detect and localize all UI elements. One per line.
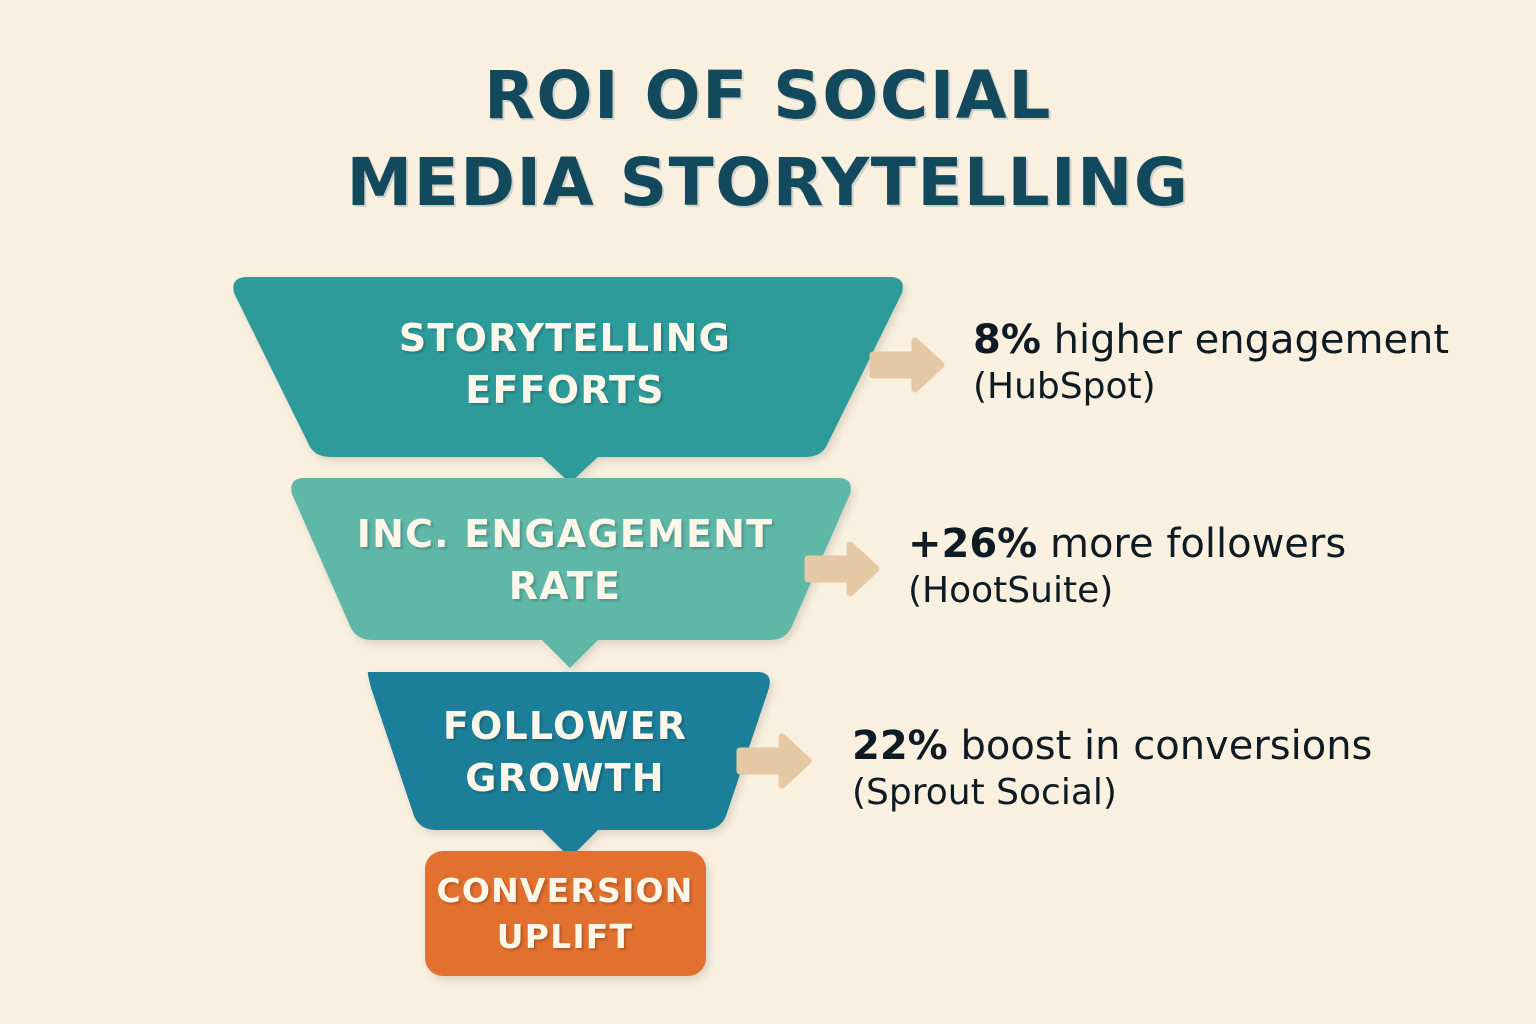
callout-inc-engagement-rate: +26% more followers (HootSuite): [908, 522, 1346, 613]
callout-headline: +26% more followers: [908, 522, 1346, 567]
stage-label-line-2: Rate: [290, 560, 840, 612]
title-line-1: ROI of Social: [0, 52, 1536, 139]
callout-headline: 22% boost in conversions: [852, 724, 1372, 769]
stage-label-line-2: Efforts: [230, 364, 900, 416]
stage-label-line-1: Follower: [350, 700, 780, 752]
callout-stat: 22%: [852, 723, 948, 769]
title-line-2: Media Storytelling: [0, 139, 1536, 226]
stage-label-line-2: Uplift: [425, 914, 705, 960]
callout-stat: +26%: [908, 521, 1037, 567]
callout-source: (Sprout Social): [852, 771, 1372, 815]
callout-description: boost in conversions: [960, 723, 1372, 769]
funnel-stage-label-storytelling-efforts: Storytelling Efforts: [230, 312, 900, 417]
stage-label-line-2: Growth: [350, 752, 780, 804]
funnel-stage-label-conversion-uplift: Conversion Uplift: [425, 868, 705, 959]
callout-source: (HubSpot): [973, 365, 1449, 409]
callout-description: higher engagement: [1054, 317, 1449, 363]
callout-stat: 8%: [973, 317, 1041, 363]
callout-source: (HootSuite): [908, 569, 1346, 613]
funnel-stage-label-inc-engagement-rate: Inc. Engagement Rate: [290, 508, 840, 613]
callout-storytelling-efforts: 8% higher engagement (HubSpot): [973, 318, 1449, 409]
callout-description: more followers: [1050, 521, 1346, 567]
stage-label-line-1: Storytelling: [230, 312, 900, 364]
funnel-stage-label-follower-growth: Follower Growth: [350, 700, 780, 805]
callout-headline: 8% higher engagement: [973, 318, 1449, 363]
stage-label-line-1: Inc. Engagement: [290, 508, 840, 560]
stage-label-line-1: Conversion: [425, 868, 705, 914]
infographic-canvas: ROI of Social Media Storytelling: [0, 0, 1536, 1024]
page-title: ROI of Social Media Storytelling: [0, 52, 1536, 226]
callout-follower-growth: 22% boost in conversions (Sprout Social): [852, 724, 1372, 815]
